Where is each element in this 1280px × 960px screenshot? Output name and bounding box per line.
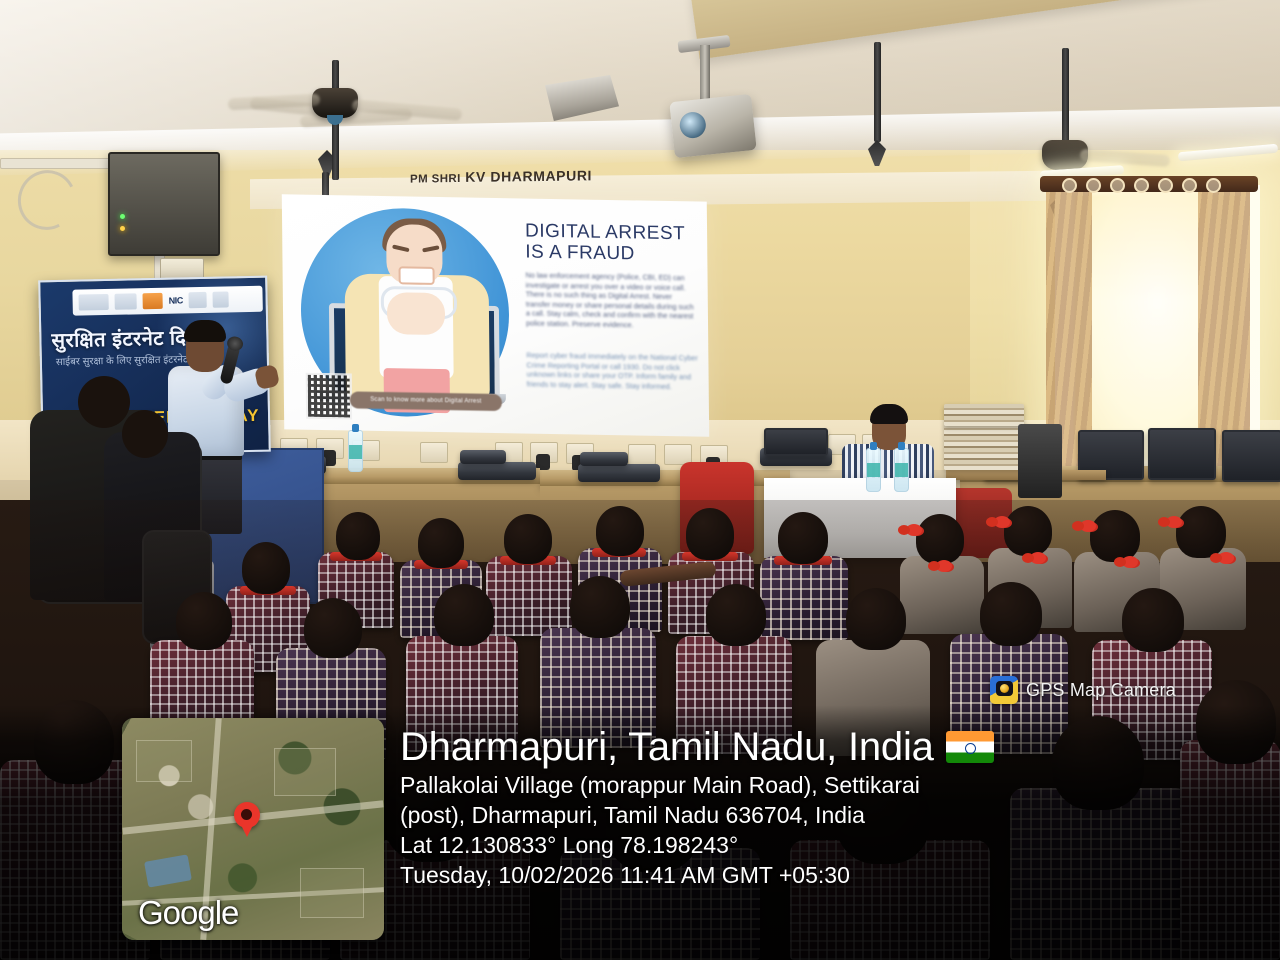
student-head — [846, 588, 906, 650]
slide-person-mouth — [399, 266, 435, 285]
student-head — [304, 598, 362, 658]
hair-ribbon — [1122, 556, 1138, 568]
slide-body-paragraph-2: Report cyber fraud immediately on the Na… — [526, 351, 698, 392]
gps-app-name: GPS Map Camera — [1026, 680, 1176, 701]
logo-nic-text: NIC — [169, 295, 184, 305]
google-watermark: Google — [138, 894, 238, 932]
water-bottle — [894, 448, 909, 492]
camera-icon — [990, 676, 1018, 704]
book-stack — [944, 404, 1024, 426]
projector — [669, 94, 756, 158]
map-parcel — [274, 748, 336, 796]
student-head — [1176, 506, 1226, 558]
monitor — [460, 450, 506, 464]
map-parcel — [300, 868, 364, 918]
student-head — [1090, 510, 1140, 562]
map-parcel — [136, 740, 192, 782]
student — [760, 556, 848, 640]
wall-school-name: PM SHRI KV DHARMAPURI — [410, 166, 670, 185]
gps-map-thumbnail[interactable]: Google — [122, 718, 384, 940]
india-flag-icon — [946, 731, 994, 763]
wall-title-prefix: PM SHRI — [410, 173, 461, 186]
student-head — [686, 508, 734, 560]
curtain-ring — [1110, 178, 1125, 193]
student-head — [336, 512, 380, 560]
hair-ribbon — [1166, 516, 1182, 528]
wall-title-main: KV DHARMAPURI — [465, 167, 592, 185]
hair-ribbon — [994, 516, 1010, 528]
water-bottle — [866, 448, 881, 492]
student-head — [706, 584, 766, 646]
curtain-ring — [1086, 178, 1101, 193]
student-head — [596, 506, 644, 556]
curtain-ring — [1134, 178, 1149, 193]
student-head — [1004, 506, 1052, 556]
banner-logo-strip: NIC — [72, 286, 263, 316]
monitor — [578, 464, 660, 482]
curtain-ring — [1062, 178, 1077, 193]
curtain-ring — [1182, 178, 1197, 193]
gps-address-line-1: Pallakolai Village (morappur Main Road),… — [400, 770, 1190, 800]
slide: Scan to know more about Digital Arrest D… — [282, 194, 709, 436]
gps-location-title: Dharmapuri, Tamil Nadu, India — [400, 724, 1190, 770]
gps-location-title-text: Dharmapuri, Tamil Nadu, India — [400, 724, 934, 770]
water-bottle — [348, 430, 363, 472]
student-head — [778, 512, 828, 564]
hair-ribbon — [1080, 520, 1096, 532]
gps-app-badge: GPS Map Camera — [990, 676, 1176, 704]
projector-arm — [700, 45, 710, 105]
gps-coordinates: Lat 12.130833° Long 78.198243° — [400, 830, 1190, 860]
speaker-hair — [184, 320, 226, 342]
logo-chip-icon — [213, 291, 229, 307]
student-head — [916, 514, 964, 564]
fan-rod — [874, 42, 881, 142]
projection-screen: Scan to know more about Digital Arrest D… — [282, 194, 709, 436]
hair-ribbon — [906, 524, 922, 536]
slide-title-line2: IS A FRAUD — [525, 242, 700, 266]
monitor — [580, 452, 628, 466]
student-head — [418, 518, 464, 568]
gps-address-line-2: (post), Dharmapuri, Tamil Nadu 636704, I… — [400, 800, 1190, 830]
curtain-ring — [1206, 178, 1221, 193]
logo-emblem-icon — [78, 294, 108, 311]
qr-code-icon — [306, 373, 352, 420]
photo-canvas: PM SHRI KV DHARMAPURI Scan to know more … — [0, 0, 1280, 960]
seated-presenter-hair — [870, 404, 908, 424]
monitor — [458, 462, 536, 480]
panel-led-icon — [120, 226, 125, 231]
wall-conduit — [0, 158, 112, 169]
slide-person-hands — [387, 292, 445, 335]
seated-staff-head — [78, 376, 130, 428]
slide-title: DIGITAL ARREST IS A FRAUD — [525, 221, 700, 266]
logo-chip-icon — [114, 293, 136, 309]
bottle-label — [895, 463, 908, 477]
logo-chip-icon — [142, 293, 162, 309]
student-head — [176, 592, 232, 650]
monitor — [1222, 430, 1280, 482]
hair-ribbon — [936, 560, 952, 572]
logo-chip-icon — [189, 292, 207, 308]
monitor — [1148, 428, 1216, 480]
student-head — [504, 514, 552, 564]
map-pin-icon — [234, 802, 260, 828]
student-head — [980, 582, 1042, 646]
gps-datetime: Tuesday, 10/02/2026 11:41 AM GMT +05:30 — [400, 860, 1190, 890]
panel-led-icon — [120, 214, 125, 219]
student-head — [570, 576, 630, 638]
student-head — [434, 584, 494, 646]
power-socket — [628, 444, 656, 465]
monitor — [764, 428, 828, 456]
electrical-panel — [108, 152, 220, 256]
power-socket — [420, 442, 448, 463]
hair-ribbon — [1030, 552, 1046, 564]
speaker-box — [1018, 424, 1062, 498]
gps-info-block: Dharmapuri, Tamil Nadu, India Pallakolai… — [400, 724, 1190, 890]
curtain-ring — [1158, 178, 1173, 193]
qr-caption: Scan to know more about Digital Arrest — [350, 391, 502, 411]
slide-body-paragraph-1: No law enforcement agency (Police, CBI, … — [526, 271, 699, 331]
seated-staff-head — [122, 410, 168, 458]
bottle-label — [867, 463, 880, 477]
bottle-label — [349, 445, 362, 459]
student — [486, 556, 572, 636]
student-head — [1122, 588, 1184, 652]
student-head — [242, 542, 290, 594]
hair-ribbon — [1218, 552, 1234, 564]
slide-title-line1: DIGITAL ARREST — [525, 221, 700, 245]
